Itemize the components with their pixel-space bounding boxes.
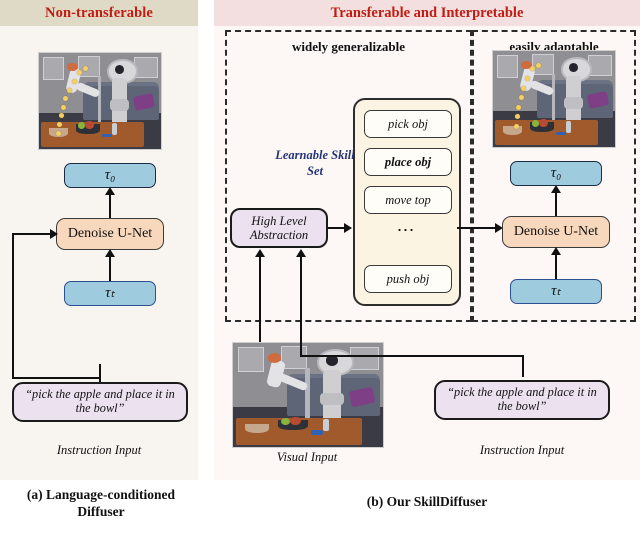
trajectory-dot [525, 76, 530, 81]
right-tauT-label: τₜ [551, 283, 561, 300]
left-denoise-unet-label: Denoise U-Net [68, 226, 152, 242]
scene-bottle [566, 121, 571, 133]
connector-instruction-stub [99, 364, 101, 382]
scene-bottle [112, 123, 117, 135]
high-level-abstraction-label: High Level Abstraction [232, 214, 326, 242]
robot-joint [320, 393, 344, 405]
skill-label: ⋯ [397, 220, 418, 241]
left-tau0-box: τ₀ [64, 163, 156, 188]
trajectory-dot [61, 105, 66, 110]
connector-unet-to-tau0 [109, 194, 111, 218]
wall-frame-icon [43, 57, 65, 80]
figure-caption-a: (a) Language-conditioned Diffuser [4, 487, 198, 521]
arrow-right-icon [344, 223, 352, 233]
connector-instruction-elbow [300, 355, 524, 357]
arrow-up-icon [105, 187, 115, 195]
scene-tool [556, 132, 566, 136]
trajectory-dot [67, 88, 72, 93]
left-tau0-label: τ₀ [105, 167, 116, 184]
skill-item-pick-obj[interactable]: pick obj [364, 110, 452, 138]
scene-tool [311, 430, 323, 434]
skill-label: push obj [387, 272, 430, 287]
robot-eye-icon [326, 355, 338, 365]
left-panel-title: Non-transferable [45, 5, 153, 22]
connector-unet-to-tau0 [555, 192, 557, 216]
scene-apple [85, 121, 94, 129]
figure-caption-b: (b) Our SkillDiffuser [214, 494, 640, 511]
right-panel: Transferable and Interpretable widely ge… [214, 0, 640, 480]
connector-instruction-vertical [12, 234, 14, 378]
left-instruction-input-label: Instruction Input [0, 443, 198, 458]
arrow-up-icon [551, 185, 561, 193]
right-robot-scene-image [492, 50, 616, 148]
skill-label: place obj [385, 155, 431, 170]
right-panel-title-bar: Transferable and Interpretable [214, 0, 640, 26]
right-tauT-box: τₜ [510, 279, 602, 304]
trajectory-dot [56, 131, 61, 136]
skill-label: pick obj [388, 117, 428, 132]
left-denoise-unet-box: Denoise U-Net [56, 218, 164, 250]
scene-apple [539, 119, 548, 127]
wall-frame-icon [281, 346, 307, 369]
right-denoise-unet-box: Denoise U-Net [502, 216, 610, 248]
robot-gripper-icon [67, 63, 78, 72]
connector-instruction-base [12, 377, 100, 379]
skill-item-place-obj[interactable]: place obj [364, 148, 452, 176]
skill-item-ellipsis: ⋯ [364, 218, 450, 242]
arrow-right-icon [50, 229, 58, 239]
scene-tool [102, 134, 112, 138]
arrow-up-icon [255, 249, 265, 257]
left-robot-scene-image [38, 52, 162, 150]
scene-apple [290, 417, 301, 425]
learnable-skill-set-box: pick obj place obj move top ⋯ push obj [353, 98, 461, 306]
robot-joint [564, 97, 584, 109]
left-instruction-text: “pick the apple and place it in the bowl… [20, 388, 180, 416]
arrow-up-icon [296, 249, 306, 257]
wall-frame-icon [238, 347, 264, 372]
connector-tauT-to-unet [555, 254, 557, 279]
right-tau0-label: τ₀ [551, 165, 562, 182]
left-tauT-box: τₜ [64, 281, 156, 306]
skill-item-move-top[interactable]: move top [364, 186, 452, 214]
left-tauT-label: τₜ [105, 285, 115, 302]
connector-instruction-to-hla [300, 256, 302, 356]
trajectory-dot [514, 124, 519, 129]
trajectory-dot [521, 86, 526, 91]
learnable-skill-set-text: Learnable Skill Set [275, 148, 355, 178]
trajectory-dot [516, 105, 521, 110]
robot-joint [110, 99, 130, 111]
scene-bottle [323, 419, 329, 431]
robot-gripper-icon [268, 353, 282, 362]
visual-input-image [232, 342, 384, 448]
trajectory-dot [519, 95, 524, 100]
wall-frame-icon [134, 57, 158, 78]
high-level-abstraction-box: High Level Abstraction [230, 208, 328, 248]
arrow-up-icon [551, 247, 561, 255]
visual-input-label: Visual Input [232, 450, 382, 465]
left-instruction-box: “pick the apple and place it in the bowl… [12, 382, 188, 422]
arrow-up-icon [105, 249, 115, 257]
wall-frame-icon [350, 347, 379, 370]
left-panel-title-bar: Non-transferable [0, 0, 198, 26]
right-tau0-box: τ₀ [510, 161, 602, 186]
right-instruction-box: “pick the apple and place it in the bowl… [434, 380, 610, 420]
connector-instruction-horizontal [12, 233, 52, 235]
right-panel-title: Transferable and Interpretable [331, 5, 524, 22]
scene-glass-bowl [503, 126, 523, 135]
trajectory-dot [536, 63, 541, 68]
right-denoise-unet-label: Denoise U-Net [514, 224, 598, 240]
skill-item-push-obj[interactable]: push obj [364, 265, 452, 293]
connector-instruction-drop [522, 355, 524, 377]
right-instruction-input-label: Instruction Input [434, 443, 610, 458]
left-panel: Non-transferable [0, 0, 198, 480]
wall-frame-icon [497, 55, 519, 78]
learnable-skill-set-label: Learnable Skill Set [272, 148, 358, 179]
connector-visual-to-hla [259, 256, 261, 342]
widely-generalizable-label: widely generalizable [227, 39, 470, 55]
connector-skillset-to-unet [457, 227, 499, 229]
connector-tauT-to-unet [109, 256, 111, 281]
connector-hla-to-skillset [328, 227, 345, 229]
skill-label: move top [385, 193, 430, 208]
trajectory-dot [72, 79, 77, 84]
wall-frame-icon [588, 55, 612, 76]
right-instruction-text: “pick the apple and place it in the bowl… [442, 386, 602, 414]
